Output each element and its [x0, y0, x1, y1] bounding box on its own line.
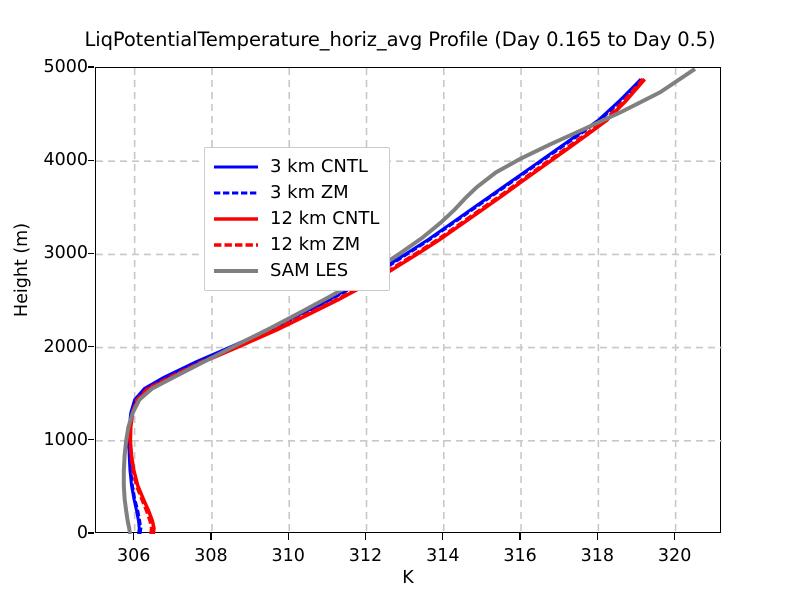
legend-swatch-3km-cntl	[213, 158, 259, 176]
y-tick-mark	[88, 439, 94, 440]
y-tick-label: 5000	[4, 57, 88, 77]
legend-item-2[interactable]: 12 km CNTL	[213, 206, 379, 232]
legend-label-sam-les: SAM LES	[270, 262, 348, 280]
y-tick-mark	[88, 160, 94, 161]
x-tick-mark	[210, 533, 211, 540]
legend-box[interactable]: 3 km CNTL 3 km ZM 12 km CNTL 12 km ZM SA…	[204, 147, 390, 291]
x-tick-label: 318	[581, 546, 614, 566]
x-tick-label: 308	[194, 546, 227, 566]
legend-item-3[interactable]: 12 km ZM	[213, 232, 379, 258]
legend-label-3km-zm: 3 km ZM	[270, 184, 349, 202]
plot-area: 3 km CNTL 3 km ZM 12 km CNTL 12 km ZM SA…	[95, 67, 721, 533]
figure-canvas: LiqPotentialTemperature_horiz_avg Profil…	[0, 0, 800, 600]
legend-swatch-3km-zm	[213, 184, 259, 202]
y-tick-label: 1000	[4, 430, 88, 450]
x-axis-tick-labels: 306308310312314316318320	[95, 540, 721, 566]
x-tick-mark	[133, 533, 134, 540]
legend-item-1[interactable]: 3 km ZM	[213, 180, 379, 206]
x-tick-label: 320	[658, 546, 691, 566]
legend-item-4[interactable]: SAM LES	[213, 258, 379, 284]
x-tick-label: 310	[272, 546, 305, 566]
legend-swatch-12km-zm	[213, 236, 259, 254]
x-tick-mark	[442, 533, 443, 540]
y-tick-label: 0	[4, 523, 88, 543]
legend-item-0[interactable]: 3 km CNTL	[213, 154, 379, 180]
x-tick-label: 306	[117, 546, 150, 566]
page-title: LiqPotentialTemperature_horiz_avg Profil…	[0, 28, 800, 51]
x-tick-label: 312	[349, 546, 382, 566]
y-axis-label: Height (m)	[12, 160, 32, 380]
y-tick-mark	[88, 346, 94, 347]
x-axis-label: K	[95, 568, 721, 588]
legend-label-12km-zm: 12 km ZM	[270, 236, 360, 254]
y-tick-mark	[88, 66, 94, 67]
legend-label-12km-cntl: 12 km CNTL	[270, 210, 379, 228]
x-tick-mark	[597, 533, 598, 540]
x-tick-mark	[288, 533, 289, 540]
x-tick-mark	[519, 533, 520, 540]
x-tick-mark	[674, 533, 675, 540]
legend-swatch-sam-les	[213, 262, 259, 280]
y-tick-mark	[88, 532, 94, 533]
x-tick-mark	[365, 533, 366, 540]
plot-svg	[96, 68, 722, 534]
y-tick-mark	[88, 253, 94, 254]
x-tick-label: 316	[503, 546, 536, 566]
legend-swatch-12km-cntl	[213, 210, 259, 228]
x-tick-label: 314	[426, 546, 459, 566]
legend-label-3km-cntl: 3 km CNTL	[270, 158, 368, 176]
